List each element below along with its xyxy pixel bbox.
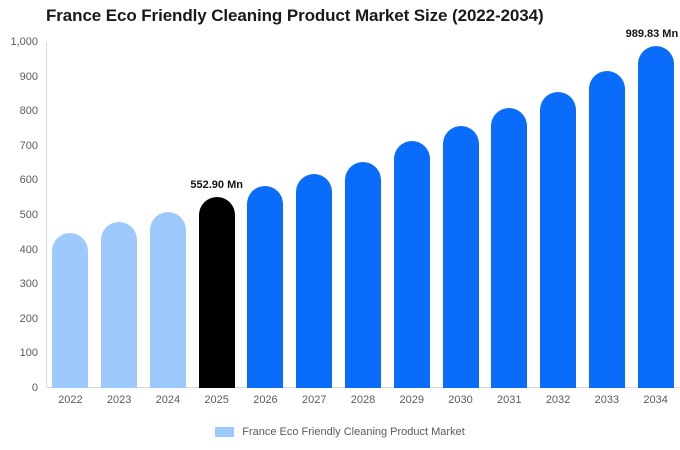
bar-slot: [150, 42, 186, 388]
bar-slot: [52, 42, 88, 388]
bar-2031[interactable]: [491, 108, 527, 388]
y-axis-tick: 200: [0, 313, 38, 325]
legend-item-label: France Eco Friendly Cleaning Product Mar…: [242, 426, 465, 438]
x-axis-tick-2023: 2023: [101, 394, 137, 406]
bar-value-label-2034: 989.83 Mn: [626, 28, 679, 40]
bar-slot: [638, 42, 674, 388]
x-axis-tick-2024: 2024: [150, 394, 186, 406]
x-axis-tick-2028: 2028: [345, 394, 381, 406]
y-axis-tick: 800: [0, 105, 38, 117]
x-axis-tick-2027: 2027: [296, 394, 332, 406]
y-axis-line: [46, 42, 47, 388]
bar-2025[interactable]: [199, 197, 235, 388]
x-axis-tick-2031: 2031: [491, 394, 527, 406]
bar-slot: [345, 42, 381, 388]
bar-slot: [247, 42, 283, 388]
bar-slot: [101, 42, 137, 388]
chart-legend: France Eco Friendly Cleaning Product Mar…: [0, 426, 680, 438]
x-axis-tick-2033: 2033: [589, 394, 625, 406]
bar-slot: [491, 42, 527, 388]
bar-2033[interactable]: [589, 71, 625, 388]
bar-slot: [296, 42, 332, 388]
y-axis-tick: 700: [0, 140, 38, 152]
bar-2032[interactable]: [540, 92, 576, 388]
y-axis-tick: 100: [0, 347, 38, 359]
bar-slot: [589, 42, 625, 388]
x-axis-tick-2025: 2025: [199, 394, 235, 406]
x-axis-tick-2029: 2029: [394, 394, 430, 406]
bar-chart: France Eco Friendly Cleaning Product Mar…: [0, 0, 680, 450]
y-axis-tick: 500: [0, 209, 38, 221]
bar-slot: [443, 42, 479, 388]
bar-2023[interactable]: [101, 222, 137, 388]
bar-slot: [540, 42, 576, 388]
bar-2027[interactable]: [296, 174, 332, 388]
bar-2026[interactable]: [247, 186, 283, 388]
bar-2034[interactable]: [638, 46, 674, 388]
legend-color-swatch: [215, 427, 234, 437]
y-axis-tick: 400: [0, 244, 38, 256]
bar-slot: [199, 42, 235, 388]
y-axis-tick: 0: [0, 382, 38, 394]
y-axis-tick-labels: 01002003004005006007008009001,000: [0, 42, 46, 388]
x-axis-tick-2022: 2022: [52, 394, 88, 406]
bar-2028[interactable]: [345, 162, 381, 388]
plot-area: 552.90 Mn989.83 Mn: [46, 42, 680, 388]
bar-slot: [394, 42, 430, 388]
x-axis-tick-2030: 2030: [443, 394, 479, 406]
x-axis-tick-labels: 2022202320242025202620272028202920302031…: [46, 394, 680, 414]
y-axis-tick: 600: [0, 174, 38, 186]
y-axis-tick: 1,000: [0, 36, 38, 48]
bar-2022[interactable]: [52, 233, 88, 388]
chart-title: France Eco Friendly Cleaning Product Mar…: [46, 6, 544, 26]
bar-value-label-2025: 552.90 Mn: [190, 179, 243, 191]
bar-2030[interactable]: [443, 126, 479, 388]
x-axis-tick-2026: 2026: [247, 394, 283, 406]
x-axis-tick-2034: 2034: [638, 394, 674, 406]
x-axis-tick-2032: 2032: [540, 394, 576, 406]
bar-2024[interactable]: [150, 212, 186, 388]
bar-2029[interactable]: [394, 141, 430, 388]
y-axis-tick: 900: [0, 71, 38, 83]
y-axis-tick: 300: [0, 278, 38, 290]
